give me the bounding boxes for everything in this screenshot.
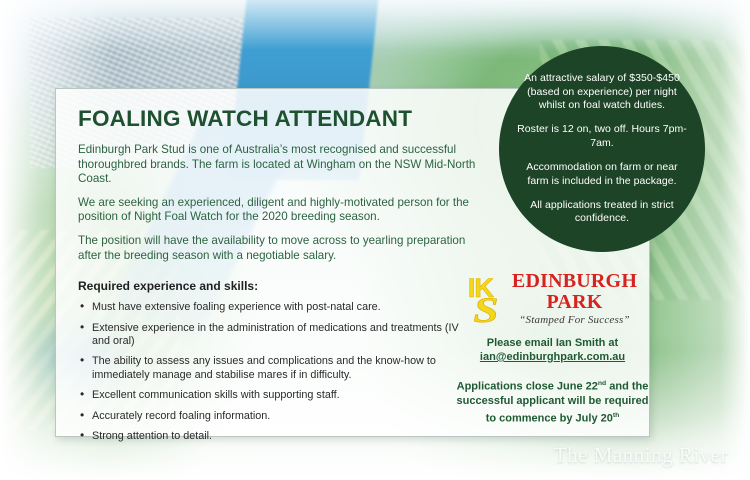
list-item: The ability to assess any issues and com… bbox=[78, 355, 478, 382]
photo-watermark: The Manning River bbox=[554, 443, 728, 468]
list-item: Accurately record foaling information. bbox=[78, 410, 478, 423]
badge-roster-text: Roster is 12 on, two off. Hours 7pm-7am. bbox=[517, 123, 687, 150]
logo-name-line-1: EDINBURGH bbox=[512, 271, 637, 291]
contact-block: Please email Ian Smith at ian@edinburghp… bbox=[454, 336, 651, 364]
edinburgh-park-logo: IK S EDINBURGH PARK “Stamped For Success… bbox=[454, 271, 651, 326]
conditions-badge: An attractive salary of $350-$450 (based… bbox=[499, 46, 705, 252]
list-item: Extensive experience in the administrati… bbox=[78, 322, 478, 349]
closing-prefix: Applications close June 22 bbox=[457, 381, 598, 393]
badge-confidence-text: All applications treated in strict confi… bbox=[517, 199, 687, 226]
list-item: Excellent communication skills with supp… bbox=[78, 389, 478, 402]
badge-salary-text: An attractive salary of $350-$450 (based… bbox=[517, 72, 687, 112]
list-item: Strong attention to detail. bbox=[78, 430, 478, 443]
badge-accommodation-text: Accommodation on farm or near farm is in… bbox=[517, 161, 687, 188]
closing-ordinal-1: nd bbox=[598, 380, 606, 387]
contact-email-link[interactable]: ian@edinburghpark.com.au bbox=[454, 350, 651, 364]
closing-ordinal-2: th bbox=[613, 412, 619, 419]
logo-tagline: “Stamped For Success” bbox=[512, 315, 637, 326]
job-advertisement: The Manning River An attractive salary o… bbox=[0, 0, 750, 480]
contact-instruction: Please email Ian Smith at bbox=[487, 337, 618, 349]
logo-monogram-icon: IK S bbox=[468, 275, 510, 323]
brand-contact-column: IK S EDINBURGH PARK “Stamped For Success… bbox=[454, 271, 651, 426]
logo-monogram-bottom: S bbox=[473, 289, 498, 331]
list-item: Must have extensive foaling experience w… bbox=[78, 301, 478, 314]
logo-name-line-2: PARK bbox=[512, 292, 637, 312]
intro-paragraph-1: Edinburgh Park Stud is one of Australia’… bbox=[78, 143, 478, 187]
intro-paragraph-2: We are seeking an experienced, diligent … bbox=[78, 196, 478, 225]
requirements-list: Must have extensive foaling experience w… bbox=[78, 301, 478, 443]
logo-wordmark: EDINBURGH PARK “Stamped For Success” bbox=[512, 271, 637, 326]
closing-dates: Applications close June 22nd and the suc… bbox=[454, 377, 651, 426]
intro-paragraph-3: The position will have the availability … bbox=[78, 234, 478, 263]
